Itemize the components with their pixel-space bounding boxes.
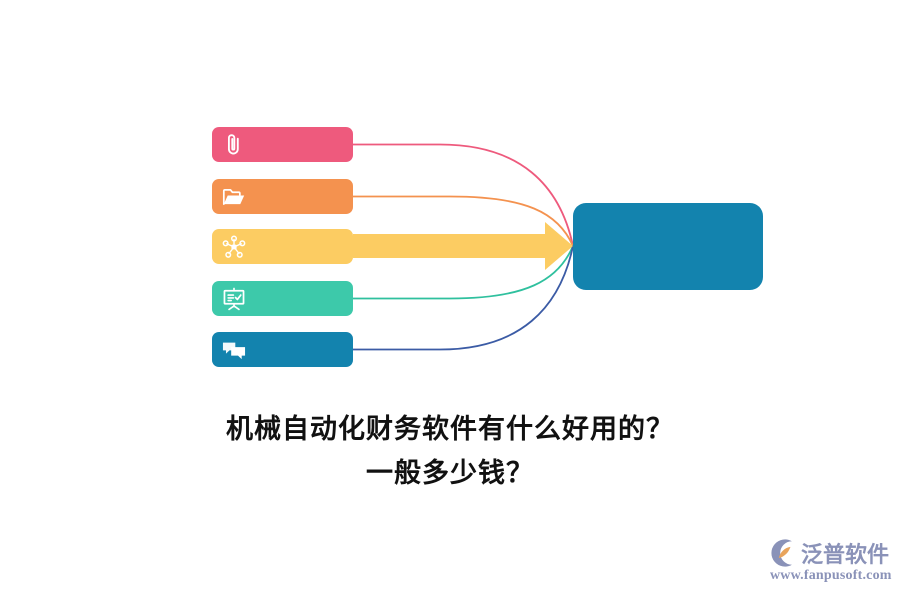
- page-canvas: 机械自动化财务软件有什么好用的？ 一般多少钱？ 泛普软件 www.fanpuso…: [0, 0, 900, 600]
- connector-curve-1: [353, 145, 573, 247]
- source-bar-4[interactable]: [212, 281, 353, 316]
- folder-open-icon: [221, 184, 247, 210]
- page-title-line-1: 机械自动化财务软件有什么好用的？: [0, 408, 900, 452]
- brand-name: 泛普软件: [801, 537, 889, 569]
- brand-row: 泛普软件: [768, 536, 889, 570]
- connector-arrow-3: [353, 222, 573, 270]
- source-bar-1[interactable]: [212, 127, 353, 162]
- target-node[interactable]: [573, 203, 763, 290]
- fanpu-logo-icon: [768, 538, 798, 568]
- brand-watermark: 泛普软件 www.fanpusoft.com: [768, 536, 892, 590]
- network-hub-icon: [221, 234, 247, 260]
- source-bar-5[interactable]: [212, 332, 353, 367]
- page-title: 机械自动化财务软件有什么好用的？ 一般多少钱？: [0, 408, 900, 496]
- source-bar-3[interactable]: [212, 229, 353, 264]
- connector-layer: [0, 0, 900, 400]
- convergence-diagram: [0, 0, 900, 400]
- presentation-board-icon: [221, 286, 247, 312]
- page-title-line-2: 一般多少钱？: [0, 452, 900, 496]
- paperclip-icon: [221, 132, 247, 158]
- brand-url: www.fanpusoft.com: [770, 568, 892, 584]
- source-bar-2[interactable]: [212, 179, 353, 214]
- chat-bubbles-icon: [221, 337, 247, 363]
